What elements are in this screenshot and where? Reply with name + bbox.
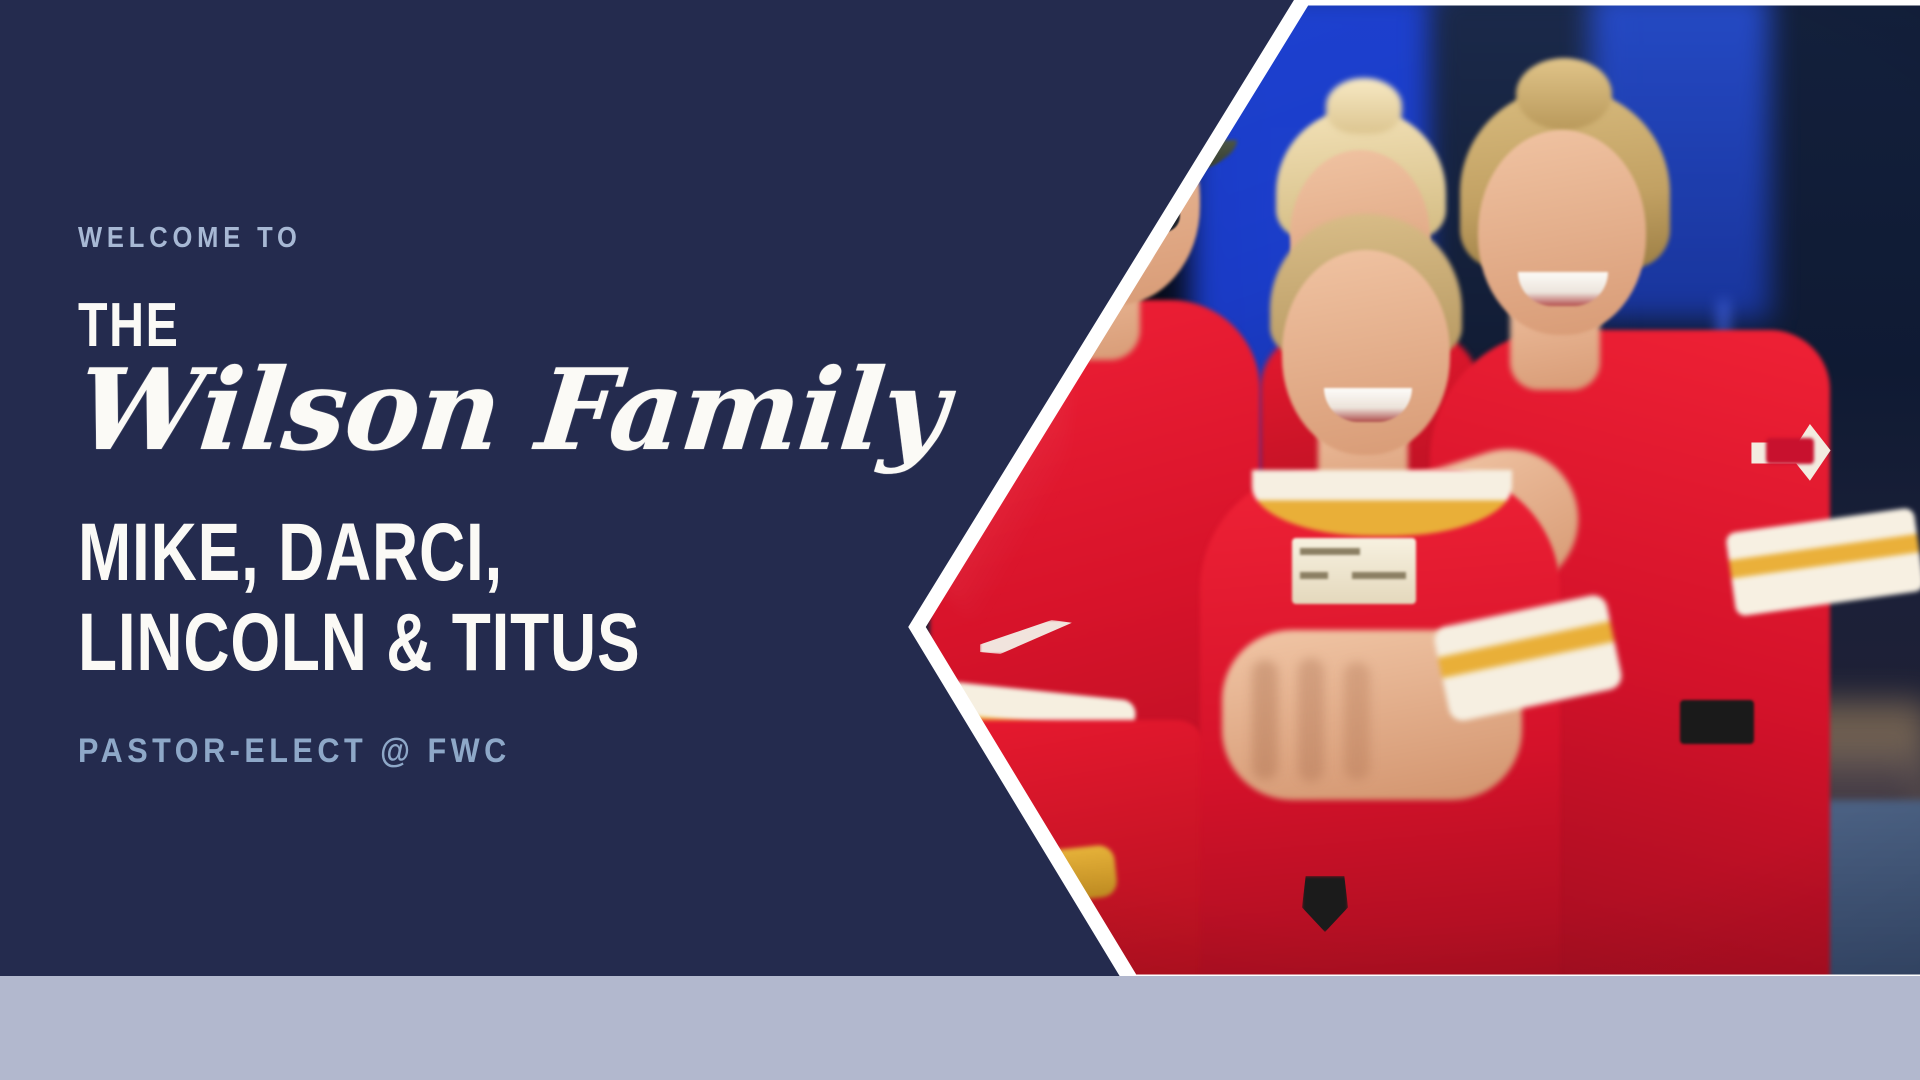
eyebrow-label: WELCOME TO: [78, 222, 302, 255]
child-lincoln-face: [1282, 250, 1450, 455]
finger-3: [1344, 662, 1370, 780]
finger-1: [1252, 660, 1278, 780]
dad-jersey-highlight: [940, 330, 1070, 630]
dad-arm-sleeve: [906, 720, 1206, 976]
finger-2: [1298, 658, 1324, 782]
name-tag-line-3: [1352, 572, 1406, 579]
dad-face: [1018, 90, 1200, 305]
photo-image: 15 19: [900, 0, 1920, 976]
kc-chiefs-arrowhead-inner: [1766, 438, 1814, 464]
kc-chiefs-arrowhead-inner: [1092, 88, 1136, 114]
bottom-accent-band: [0, 976, 1920, 1080]
dad-glasses-bridge: [1094, 194, 1114, 201]
role-label: PASTOR-ELECT @ FWC: [78, 732, 511, 771]
mom-hair-bun: [1516, 58, 1612, 130]
welcome-slide: 15 19: [0, 0, 1920, 1080]
family-name-script: Wilson Family: [72, 355, 953, 467]
child-jersey-number: 19: [900, 140, 1150, 340]
name-tag-line-2: [1300, 572, 1328, 579]
child-titus-hair-tuft: [1326, 78, 1402, 134]
nfl-shield-icon: [1006, 118, 1036, 164]
family-photo: 15 19: [900, 0, 1920, 976]
names-line-1: MIKE, DARCI,: [78, 512, 503, 594]
nflpa-patch-icon: [1680, 700, 1754, 744]
names-line-2: LINCOLN & TITUS: [78, 602, 640, 684]
kc-chiefs-arrowhead-icon: [1076, 72, 1150, 130]
dad-baseball-cap: [1000, 55, 1225, 167]
dad-glasses-right-lens: [1106, 176, 1180, 232]
dad-glasses-left-lens: [1022, 176, 1096, 232]
dad-jersey-number: 15: [900, 0, 1078, 150]
title-text-block: WELCOME TO THE Wilson Family MIKE, DARCI…: [78, 0, 838, 976]
name-tag-line-1: [1300, 548, 1360, 555]
